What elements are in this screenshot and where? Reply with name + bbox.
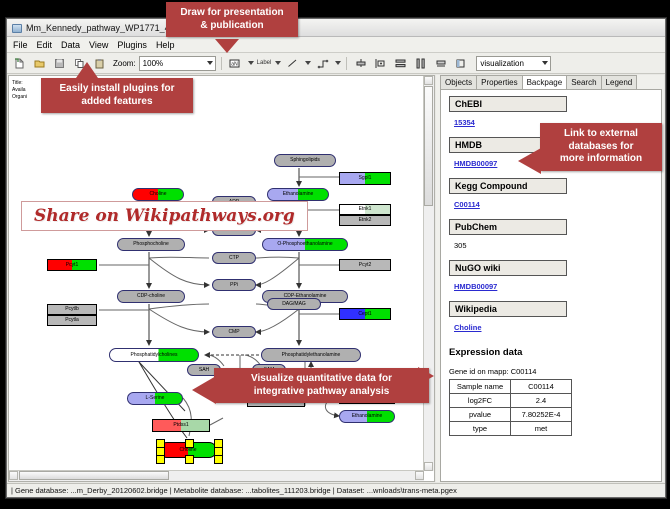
table-row: Sample nameC00114 [450,380,572,394]
distribute-vertical-icon[interactable] [392,55,409,72]
menu-edit[interactable]: Edit [37,40,53,50]
tab-properties[interactable]: Properties [476,75,522,89]
info-availability: Availa [12,87,27,94]
table-cell-value: 2.4 [511,394,572,408]
tab-objects[interactable]: Objects [440,75,477,89]
table-cell-key: log2FC [450,394,511,408]
table-row: log2FC2.4 [450,394,572,408]
db-section-heading: ChEBI [449,96,567,112]
node-label: CDP-choline [137,294,165,299]
db-section-heading: NuGO wiki [449,260,567,276]
callout-plugins-line2: added features [49,96,185,109]
table-cell-value: C00114 [511,380,572,394]
share-banner-text: Share on Wikipathways.org [34,206,295,226]
gene-node[interactable]: Pcyt1 [47,259,97,271]
info-organism: Organi [12,94,27,101]
metabolite-node[interactable]: Phosphatidylcholines [109,348,199,362]
side-panel-tabs: ObjectsPropertiesBackpageSearchLegend [436,75,664,89]
menu-help[interactable]: Help [156,40,175,50]
node-label: Choline [150,192,167,197]
table-cell-key: pvalue [450,408,511,422]
db-section-heading: Kegg Compound [449,178,567,194]
callout-visualize-arrow [192,376,216,404]
callout-plugins-line1: Easily install plugins for [49,83,185,96]
expression-pointer-shaft [404,371,422,381]
metabolite-node[interactable]: Phosphocholine [117,238,185,251]
callout-draw: Draw for presentation & publication [166,2,298,37]
callout-draw-line1: Draw for presentation [174,7,290,20]
zoom-combo[interactable]: 100% [139,56,216,71]
chevron-down-icon[interactable] [275,61,281,65]
menu-file[interactable]: File [13,40,28,50]
gene-node[interactable]: Pcytlb [47,304,97,315]
menu-bar: File Edit Data View Plugins Help [7,37,665,53]
new-file-icon[interactable] [11,55,28,72]
selection-handle[interactable] [185,455,194,464]
node-label: Ethanolamine [283,192,314,197]
callout-visualize: Visualize quantitative data for integrat… [214,368,429,403]
table-row: typemet [450,422,572,436]
metabolite-node[interactable]: L-Serine [127,392,183,405]
callout-visualize-line2: integrative pathway analysis [222,386,421,399]
app-icon [11,22,22,33]
callout-plugins-arrow [76,62,98,78]
callout-plugins: Easily install plugins for added feature… [41,78,193,113]
node-label: Sphingolipids [290,158,320,163]
node-label: L-Serine [146,396,165,401]
node-label: Phosphatidylethanolamine [282,353,341,358]
metabolite-node[interactable]: O-Phosphoethanolamine [262,238,348,251]
db-link[interactable]: C00114 [454,200,480,209]
db-section-heading: Wikipedia [449,301,567,317]
tool-bar: Zoom: 100% aN Label [7,53,665,74]
stack-icon[interactable] [432,55,449,72]
metabolite-node[interactable]: DAG/MAG [267,298,321,310]
node-label: Pcyt1 [66,263,79,268]
chevron-down-icon[interactable] [305,61,311,65]
status-text: | Gene database: ...m_Derby_20120602.bri… [11,486,457,495]
label-tool-label[interactable]: Label [257,60,272,66]
table-row: pvalue7.80252E-4 [450,408,572,422]
callout-visualize-line1: Visualize quantitative data for [222,373,421,386]
table-cell-value: 7.80252E-4 [511,408,572,422]
menu-plugins[interactable]: Plugins [117,40,147,50]
status-bar: | Gene database: ...m_Derby_20120602.bri… [7,483,665,497]
distribute-horizontal-icon[interactable] [412,55,429,72]
align-side-icon[interactable] [452,55,469,72]
metabolite-node[interactable]: PPi [212,279,256,291]
node-label: Etnk1 [359,207,372,212]
metabolite-node[interactable]: CTP [212,252,256,264]
chevron-down-icon [207,61,213,65]
pathvisio-window: Mm_Kennedy_pathway_WP1771_45176.gpml Fil… [6,18,666,498]
callout-link-line1: Link to external [548,128,654,141]
chevron-down-icon[interactable] [335,61,341,65]
metabolite-node[interactable]: Choline [132,188,184,201]
node-label: Phosphatidylcholines [131,353,178,358]
db-section-heading: PubChem [449,219,567,235]
node-label: SAH [199,368,209,373]
db-link[interactable]: 15354 [454,118,475,127]
toolbar-separator [221,57,222,70]
metabolite-node[interactable]: Phosphatidylethanolamine [261,348,361,362]
table-cell-value: met [511,422,572,436]
chevron-down-icon [542,61,548,65]
open-folder-icon[interactable] [31,55,48,72]
tab-legend[interactable]: Legend [601,75,638,89]
node-label: Phosphocholine [133,242,169,247]
node-label: O-Phosphoethanolamine [277,242,332,247]
node-label: Cept1 [358,312,371,317]
svg-text:aN: aN [231,61,238,67]
save-icon[interactable] [51,55,68,72]
selection-handle[interactable] [214,455,223,464]
zoom-label: Zoom: [113,59,136,68]
node-label: CMP [228,330,239,335]
gene-node[interactable]: Cept1 [339,308,391,320]
menu-data[interactable]: Data [61,40,80,50]
db-link[interactable]: Choline [454,323,482,332]
node-label: CTP [229,256,239,261]
table-cell-key: Sample name [450,380,511,394]
info-title: Title: [12,80,27,87]
node-label: Sgpl1 [359,176,372,181]
gene-node[interactable]: Etnk2 [339,215,391,226]
gene-node[interactable]: Ptdss1 [152,419,210,432]
node-label: Etnk2 [359,218,372,223]
menu-view[interactable]: View [89,40,108,50]
node-label: Pcyt2 [359,263,372,268]
table-cell-key: type [450,422,511,436]
callout-link: Link to external databases for more info… [540,123,662,171]
metabolite-node[interactable]: Sphingolipids [274,154,336,167]
visualization-combo[interactable]: visualization [476,56,551,71]
tab-backpage[interactable]: Backpage [522,75,568,89]
gene-node[interactable]: Sgpl1 [339,172,391,185]
toolbar-separator [346,57,347,70]
share-banner: Share on Wikipathways.org [21,201,308,231]
db-link[interactable]: HMDB00097 [454,282,497,291]
metabolite-node[interactable]: Choline [159,442,217,458]
gene-node[interactable]: Pcyt2 [339,259,391,271]
gene-id-line: Gene id on mapp: C00114 [449,367,653,376]
gene-node[interactable]: Pcytla [47,315,97,326]
tab-search[interactable]: Search [566,75,601,89]
callout-link-line3: more information [548,153,654,166]
metabolite-node[interactable]: CDP-choline [117,290,185,303]
pathway-canvas[interactable]: Title: Availa Organi [8,75,435,482]
align-left-icon[interactable] [372,55,389,72]
callout-draw-arrow [215,39,239,53]
node-label: Pcytlb [65,307,79,312]
zoom-value: 100% [143,59,163,68]
title-bar: Mm_Kennedy_pathway_WP1771_45176.gpml [7,19,665,37]
visualization-value: visualization [480,59,524,68]
pathway-info: Title: Availa Organi [12,80,27,100]
node-label: PPi [230,283,238,288]
line-tool-icon[interactable] [284,55,301,72]
metabolite-node[interactable]: Ethanolamine [339,410,395,423]
db-link[interactable]: HMDB00097 [454,159,497,168]
node-label: Ptdss1 [173,423,188,428]
connector-tool-icon[interactable] [314,55,331,72]
db-value: 305 [454,241,467,250]
callout-draw-line2: & publication [174,20,290,33]
gene-node[interactable]: Etnk1 [339,204,391,215]
node-label: DAG/MAG [282,302,306,307]
metabolite-node[interactable]: Ethanolamine [267,188,329,201]
callout-link-line2: databases for [548,141,654,154]
metabolite-node[interactable]: CMP [212,326,256,338]
expression-table: Sample nameC00114log2FC2.4pvalue7.80252E… [449,379,572,436]
chevron-down-icon[interactable] [248,61,254,65]
callout-link-arrow [518,148,541,174]
node-label: Ethanolamine [352,414,383,419]
selection-handle[interactable] [156,455,165,464]
align-top-icon[interactable] [352,55,369,72]
expression-data-title: Expression data [449,347,653,358]
pathway-drawing[interactable]: Title: Availa Organi [9,76,434,481]
node-label: Choline [180,448,197,453]
datanode-icon[interactable]: aN [227,55,244,72]
node-label: Pcytla [65,318,79,323]
